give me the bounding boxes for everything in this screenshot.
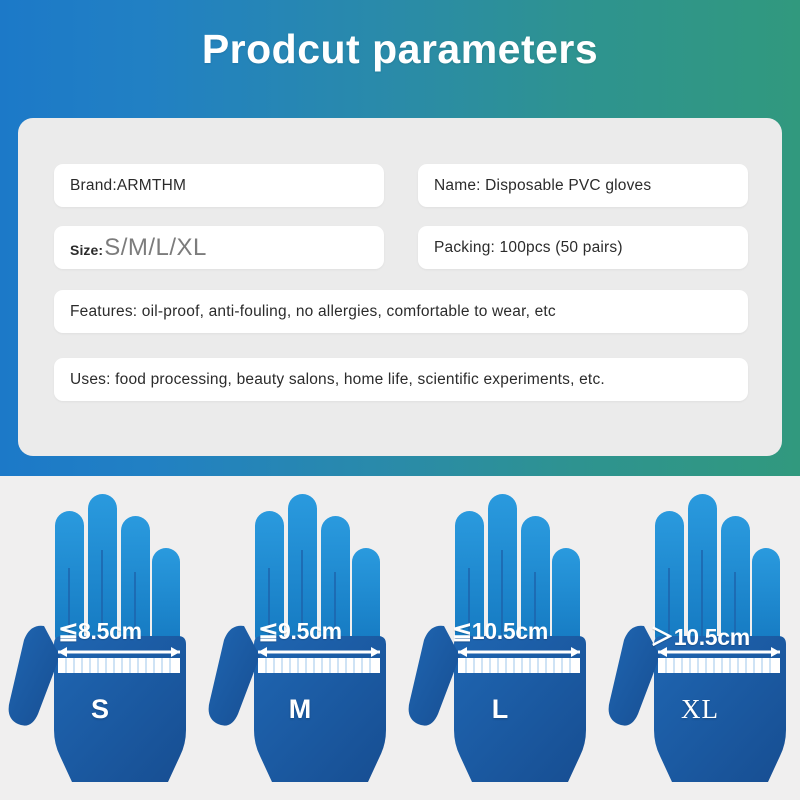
glove-item-extra-large: ＞10.5cm XL [600, 476, 800, 800]
ruler-icon [458, 647, 580, 673]
measurement-operator: ≦ [452, 618, 472, 645]
field-packing-text: Packing: 100pcs (50 pairs) [418, 239, 623, 257]
glove-item-medium: ≦9.5cm M [200, 476, 400, 800]
measurement-operator: ≦ [258, 618, 278, 645]
ruler-icon [58, 647, 180, 673]
measurement-label-small: ≦8.5cm [0, 617, 200, 646]
measurement-value: 8.5cm [78, 618, 142, 644]
field-packing: Packing: 100pcs (50 pairs) [418, 226, 748, 269]
field-product-name: Name: Disposable PVC gloves [418, 164, 748, 207]
measurement-label-extra-large: ＞10.5cm [600, 617, 800, 652]
size-letter-large: L [400, 694, 600, 725]
field-features-text: Features: oil-proof, anti-fouling, no al… [54, 303, 556, 321]
field-uses: Uses: food processing, beauty salons, ho… [54, 358, 748, 401]
size-letter-small: S [0, 694, 200, 725]
field-size-label: Size: [70, 242, 103, 258]
glove-item-small: ≦8.5cm S [0, 476, 200, 800]
field-size-value: S/M/L/XL [104, 234, 207, 262]
product-parameters-infographic: Prodcut parameters Brand:ARMTHM Name: Di… [0, 0, 800, 800]
glove-item-large: ≦10.5cm L [400, 476, 600, 800]
header-section: Prodcut parameters Brand:ARMTHM Name: Di… [0, 0, 800, 476]
size-letter-extra-large: XL [600, 694, 800, 725]
measurement-label-large: ≦10.5cm [400, 617, 600, 646]
field-brand: Brand:ARMTHM [54, 164, 384, 207]
field-size-row: Size: S/M/L/XL [54, 234, 207, 262]
measurement-operator: ≦ [58, 618, 78, 645]
page-title: Prodcut parameters [0, 26, 800, 73]
size-letter-medium: M [200, 694, 400, 725]
ruler-icon [258, 647, 380, 673]
field-product-name-text: Name: Disposable PVC gloves [418, 177, 651, 195]
measurement-operator: ＞ [650, 624, 674, 651]
glove-row: ≦8.5cm S [0, 476, 800, 800]
glove-size-chart: ≦8.5cm S [0, 476, 800, 800]
field-uses-text: Uses: food processing, beauty salons, ho… [54, 371, 605, 389]
field-brand-text: Brand:ARMTHM [54, 177, 186, 195]
field-size: Size: S/M/L/XL [54, 226, 384, 269]
parameters-panel: Brand:ARMTHM Name: Disposable PVC gloves… [18, 118, 782, 456]
measurement-label-medium: ≦9.5cm [200, 617, 400, 646]
measurement-value: 10.5cm [674, 624, 750, 650]
field-features: Features: oil-proof, anti-fouling, no al… [54, 290, 748, 333]
measurement-value: 10.5cm [472, 618, 548, 644]
measurement-value: 9.5cm [278, 618, 342, 644]
